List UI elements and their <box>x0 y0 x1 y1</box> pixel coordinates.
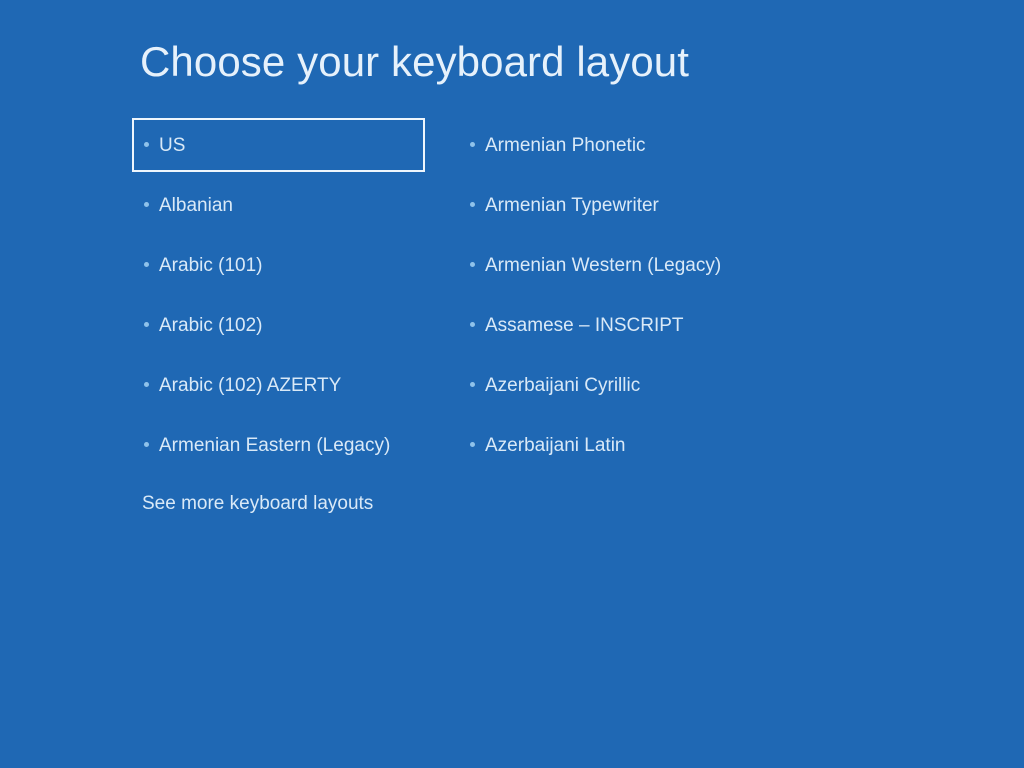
keyboard-layout-option-azerbaijani-cyrillic[interactable]: Azerbaijani Cyrillic <box>462 358 862 412</box>
keyboard-layout-chooser-screen: Choose your keyboard layout US Albanian … <box>0 0 1024 768</box>
bullet-icon <box>470 262 475 267</box>
keyboard-layout-option-azerbaijani-latin[interactable]: Azerbaijani Latin <box>462 418 862 472</box>
bullet-icon <box>144 442 149 447</box>
keyboard-layout-label: Albanian <box>159 196 233 215</box>
bullet-icon <box>144 322 149 327</box>
keyboard-layout-label: Arabic (102) <box>159 316 263 335</box>
keyboard-layout-label: Armenian Eastern (Legacy) <box>159 436 390 455</box>
keyboard-layout-option-armenian-western-legacy[interactable]: Armenian Western (Legacy) <box>462 238 862 292</box>
bullet-icon <box>144 202 149 207</box>
bullet-icon <box>144 382 149 387</box>
keyboard-layout-option-us[interactable]: US <box>132 118 425 172</box>
keyboard-layout-label: Armenian Typewriter <box>485 196 659 215</box>
keyboard-layout-option-arabic-102-azerty[interactable]: Arabic (102) AZERTY <box>132 358 432 412</box>
keyboard-layout-option-arabic-102[interactable]: Arabic (102) <box>132 298 432 352</box>
keyboard-layout-option-armenian-typewriter[interactable]: Armenian Typewriter <box>462 178 862 232</box>
keyboard-layout-label: Arabic (101) <box>159 256 263 275</box>
keyboard-layout-label: Assamese – INSCRIPT <box>485 316 684 335</box>
keyboard-layout-option-albanian[interactable]: Albanian <box>132 178 432 232</box>
keyboard-layout-label: Armenian Phonetic <box>485 136 646 155</box>
keyboard-layout-label: Azerbaijani Latin <box>485 436 625 455</box>
keyboard-layout-label: US <box>159 136 185 155</box>
bullet-icon <box>470 382 475 387</box>
bullet-icon <box>470 202 475 207</box>
keyboard-layout-label: Arabic (102) AZERTY <box>159 376 341 395</box>
keyboard-layout-column-left: US Albanian Arabic (101) Arabic (102) Ar… <box>132 118 432 478</box>
keyboard-layout-label: Armenian Western (Legacy) <box>485 256 721 275</box>
keyboard-layout-label: Azerbaijani Cyrillic <box>485 376 640 395</box>
keyboard-layout-option-armenian-phonetic[interactable]: Armenian Phonetic <box>462 118 862 172</box>
bullet-icon <box>470 142 475 147</box>
bullet-icon <box>144 142 149 147</box>
bullet-icon <box>144 262 149 267</box>
keyboard-layout-option-arabic-101[interactable]: Arabic (101) <box>132 238 432 292</box>
keyboard-layout-column-right: Armenian Phonetic Armenian Typewriter Ar… <box>462 118 862 478</box>
bullet-icon <box>470 442 475 447</box>
keyboard-layout-option-assamese-inscript[interactable]: Assamese – INSCRIPT <box>462 298 862 352</box>
keyboard-layout-option-armenian-eastern-legacy[interactable]: Armenian Eastern (Legacy) <box>132 418 432 472</box>
page-title: Choose your keyboard layout <box>140 38 689 86</box>
bullet-icon <box>470 322 475 327</box>
see-more-keyboard-layouts-link[interactable]: See more keyboard layouts <box>142 493 373 515</box>
